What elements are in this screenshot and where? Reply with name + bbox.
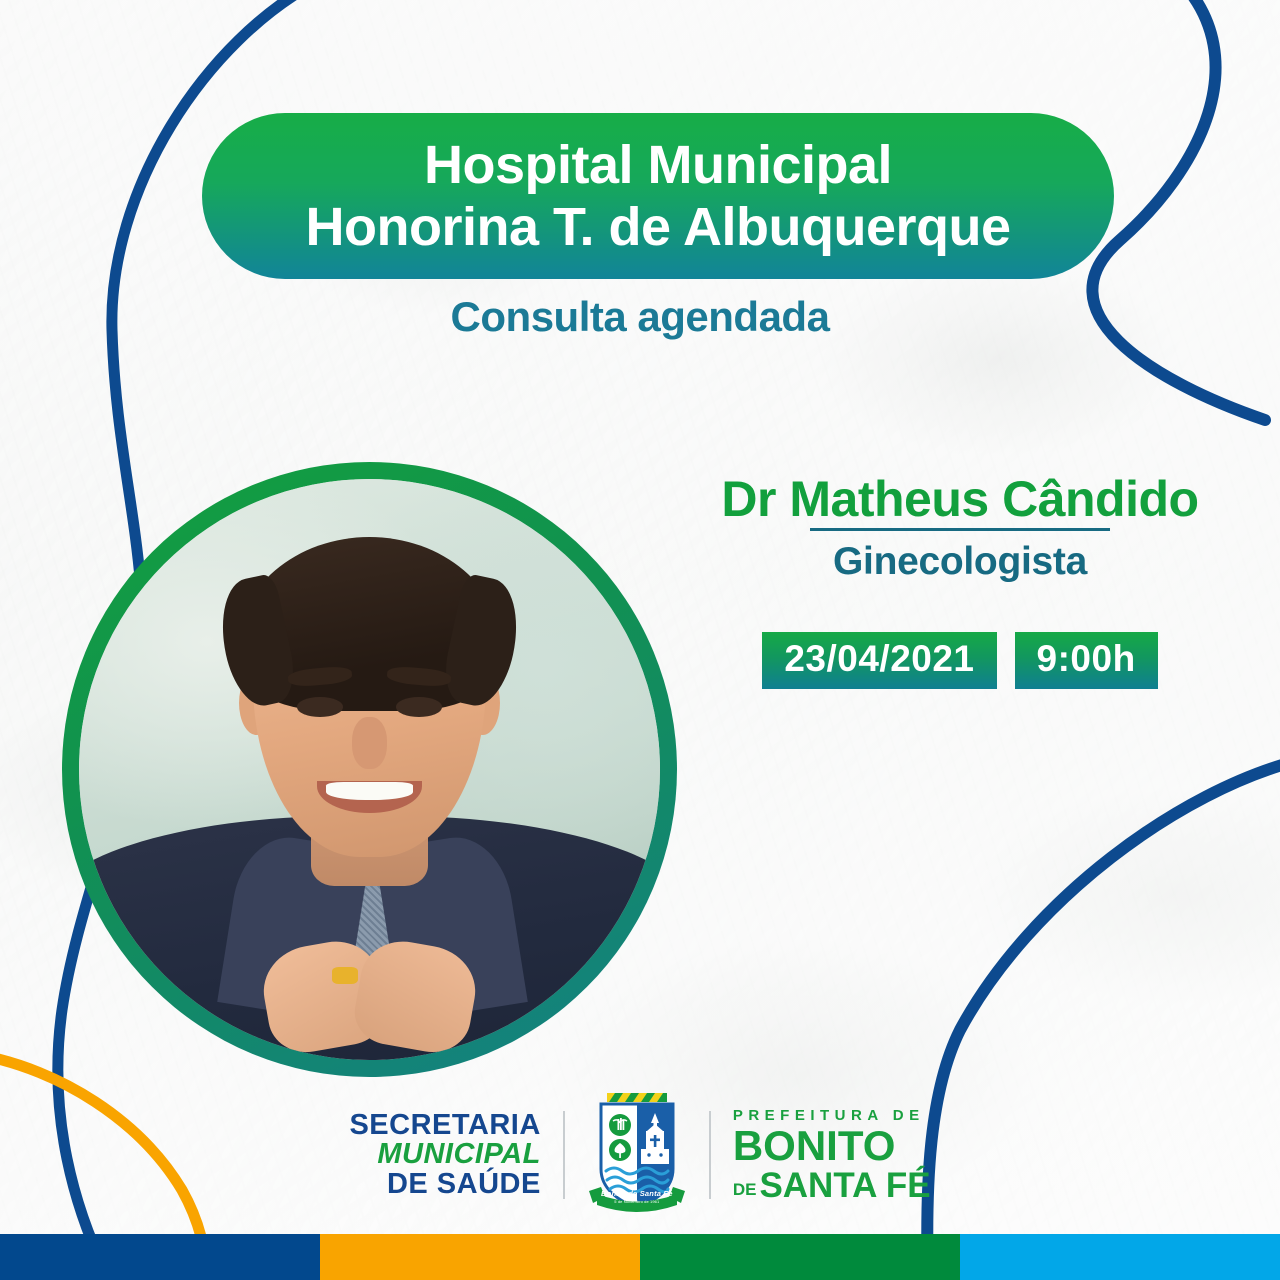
bottom-bar-segment-lightblue [960,1234,1280,1280]
appointment-schedule: 23/04/2021 9:00h [660,632,1260,689]
city-hall-line-1: PREFEITURA DE [733,1108,931,1123]
bottom-bar-segment-orange [320,1234,640,1280]
footer-logos: SECRETARIA MUNICIPAL DE SAÚDE [0,1090,1280,1220]
footer-divider-left [563,1111,565,1199]
city-hall-line-2: BONITO [733,1125,931,1167]
hospital-title-pill: Hospital Municipal Honorina T. de Albuqu… [202,113,1114,279]
appointment-date-badge: 23/04/2021 [762,632,996,689]
bottom-color-bar [0,1234,1280,1280]
appointment-time-badge: 9:00h [1015,632,1158,689]
bottom-bar-segment-green [640,1234,960,1280]
health-department-logo: SECRETARIA MUNICIPAL DE SAÚDE [349,1111,562,1200]
doctor-name: Dr Matheus Cândido [660,470,1260,528]
doctor-specialty: Ginecologista [660,540,1260,584]
city-hall-logo: PREFEITURA DE BONITO DESANTA FÉ [711,1108,931,1203]
city-hall-line-3-prefix: DE [733,1180,757,1199]
health-dept-line-3: DE SAÚDE [349,1170,540,1200]
doctor-photo-ring [62,462,677,1077]
photo-nose [352,717,387,769]
coat-of-arms-ribbon-text: Bonito de Santa Fé [579,1189,695,1198]
hospital-title-line-1: Hospital Municipal [424,138,892,192]
city-hall-line-3: DESANTA FÉ [733,1168,931,1203]
photo-finger-ring [332,967,358,984]
coat-of-arms-ribbon-subtext: 5 de Novembro de 1961 [579,1199,695,1204]
health-dept-line-2: MUNICIPAL [349,1140,540,1170]
hospital-title-line-2: Honorina T. de Albuquerque [305,200,1010,254]
coat-of-arms-icon: Bonito de Santa Fé 5 de Novembro de 1961 [579,1091,695,1219]
doctor-photo [79,479,660,1060]
photo-teeth [326,782,413,800]
appointment-subtitle: Consulta agendada [0,293,1280,341]
health-dept-line-1: SECRETARIA [349,1111,540,1141]
photo-eye-left [297,697,343,717]
photo-eye-right [396,697,442,717]
appointment-poster: Hospital Municipal Honorina T. de Albuqu… [0,0,1280,1280]
doctor-name-divider [810,528,1110,531]
city-hall-line-3-main: SANTA FÉ [759,1166,930,1205]
bottom-bar-segment-navy [0,1234,320,1280]
